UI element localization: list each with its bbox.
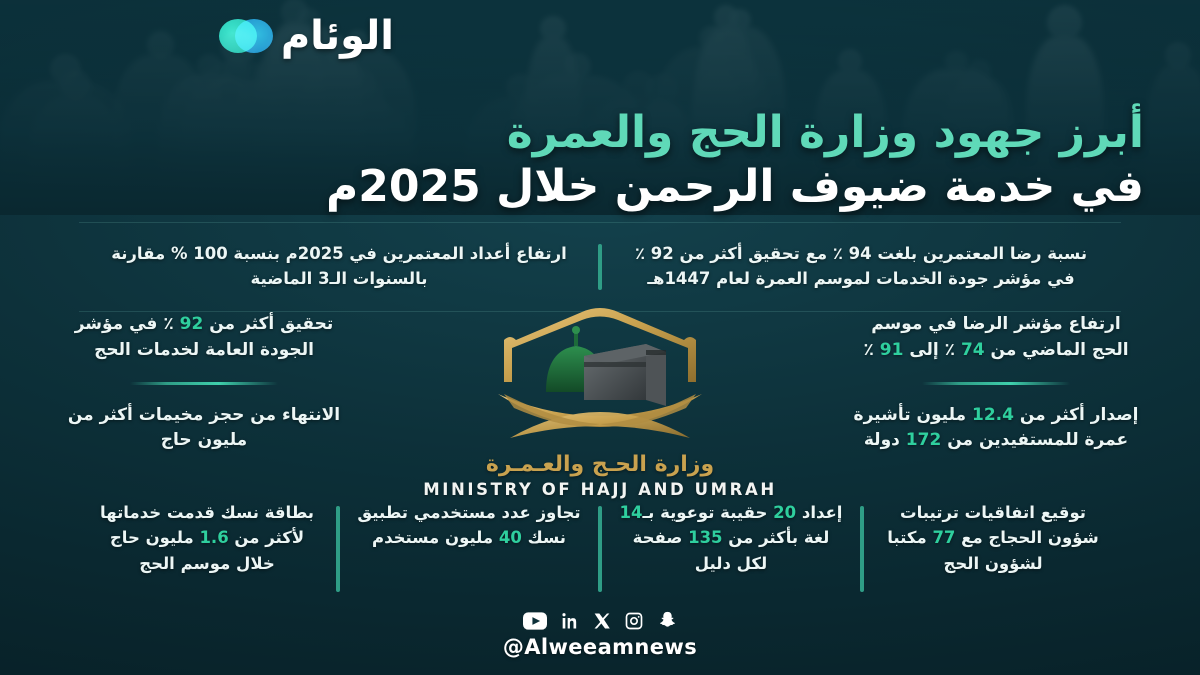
page-title: أبرز جهود وزارة الحج والعمرة في خدمة ضيو… bbox=[54, 108, 1144, 212]
x-icon[interactable] bbox=[593, 612, 611, 630]
stat-text: ٪ إلى bbox=[903, 340, 961, 360]
instagram-icon[interactable] bbox=[624, 611, 644, 631]
stat-number: 172 bbox=[906, 430, 942, 450]
ministry-name-english: MINISTRY OF HAJJ AND UMRAH bbox=[390, 480, 810, 499]
headline-line-1: أبرز جهود وزارة الحج والعمرة bbox=[54, 108, 1144, 158]
ministry-emblem-icon bbox=[450, 296, 750, 456]
alweeam-logo[interactable]: الوئام bbox=[215, 16, 394, 56]
stat-number: 92 bbox=[180, 314, 204, 334]
stat-number: 135 bbox=[688, 528, 722, 547]
headline-line-2: في خدمة ضيوف الرحمن خلال 2025م bbox=[54, 162, 1144, 212]
stat-text: الانتهاء من حجز مخيمات أكثر من مليون حاج bbox=[68, 405, 340, 451]
stat-number: 1.6 bbox=[199, 528, 228, 547]
stat-number: 91 bbox=[880, 340, 904, 360]
linkedin-icon[interactable] bbox=[560, 611, 580, 631]
ministry-of-hajj-and-umrah-logo: وزارة الحـج والعـمـرة MINISTRY OF HAJJ A… bbox=[390, 296, 810, 508]
left-stats-column: تحقيق أكثر من 92 ٪ في مؤشر الجودة العامة… bbox=[54, 312, 354, 454]
top-stat-right: ارتفاع أعداد المعتمرين في 2025م بنسبة 10… bbox=[90, 242, 588, 292]
bottom-stat-item: تجاوز عدد مستخدمي تطبيق نسك 40 مليون مست… bbox=[346, 500, 592, 551]
stat-text: تحقيق أكثر من bbox=[203, 314, 333, 334]
snapchat-icon[interactable] bbox=[657, 610, 678, 631]
stat-text: ٪ bbox=[863, 340, 879, 360]
right-stats-column: ارتفاع مؤشر الرضا في موسم الحج الماضي من… bbox=[846, 312, 1146, 454]
social-handle: @Alweeamnews bbox=[0, 635, 1200, 659]
stat-item: الانتهاء من حجز مخيمات أكثر من مليون حاج bbox=[54, 403, 354, 455]
vertical-divider bbox=[860, 506, 864, 592]
bottom-stats-row: توقيع اتفاقيات ترتيبات شؤون الحجاج مع 77… bbox=[48, 500, 1152, 592]
stat-text: حقيبة توعوية بـ bbox=[643, 503, 774, 522]
ministry-name-arabic: وزارة الحـج والعـمـرة bbox=[390, 452, 810, 477]
youtube-icon[interactable] bbox=[523, 612, 547, 630]
infographic-canvas: الوئام أبرز جهود وزارة الحج والعمرة في خ… bbox=[0, 0, 1200, 675]
top-stat-left: نسبة رضا المعتمرين بلغت 94 ٪ مع تحقيق أك… bbox=[612, 242, 1110, 292]
bottom-stat-item: توقيع اتفاقيات ترتيبات شؤون الحجاج مع 77… bbox=[870, 500, 1116, 576]
stat-text: إعداد bbox=[796, 503, 842, 522]
stat-text: مليون مستخدم bbox=[372, 528, 499, 547]
stat-item: ارتفاع مؤشر الرضا في موسم الحج الماضي من… bbox=[846, 312, 1146, 364]
stat-number: 74 bbox=[961, 340, 985, 360]
stat-number: 40 bbox=[499, 528, 522, 547]
bottom-stat-item: بطاقة نسك قدمت خدماتها لأكثر من 1.6 مليو… bbox=[84, 500, 330, 576]
vertical-divider bbox=[336, 506, 340, 592]
stat-text: لغة بأكثر من bbox=[723, 528, 830, 547]
alweeam-logo-text: الوئام bbox=[281, 16, 394, 56]
stat-text: إصدار أكثر من bbox=[1014, 405, 1139, 425]
horizontal-divider bbox=[922, 382, 1070, 385]
footer: @Alweeamnews bbox=[0, 610, 1200, 659]
vertical-divider bbox=[598, 506, 602, 592]
bottom-stat-item: إعداد 20 حقيبة توعوية بـ14 لغة بأكثر من … bbox=[608, 500, 854, 576]
stat-number: 77 bbox=[932, 528, 955, 547]
stat-number: 20 bbox=[773, 503, 796, 522]
stat-item: تحقيق أكثر من 92 ٪ في مؤشر الجودة العامة… bbox=[54, 312, 354, 364]
stat-text: دولة bbox=[864, 430, 906, 450]
vertical-divider bbox=[598, 244, 602, 290]
stat-number: 14 bbox=[620, 503, 643, 522]
social-links bbox=[0, 610, 1200, 631]
horizontal-divider bbox=[130, 382, 278, 385]
stat-item: إصدار أكثر من 12.4 مليون تأشيرة عمرة للم… bbox=[846, 403, 1146, 455]
alweeam-logo-mark-icon bbox=[215, 19, 273, 53]
stat-number: 12.4 bbox=[972, 405, 1014, 425]
